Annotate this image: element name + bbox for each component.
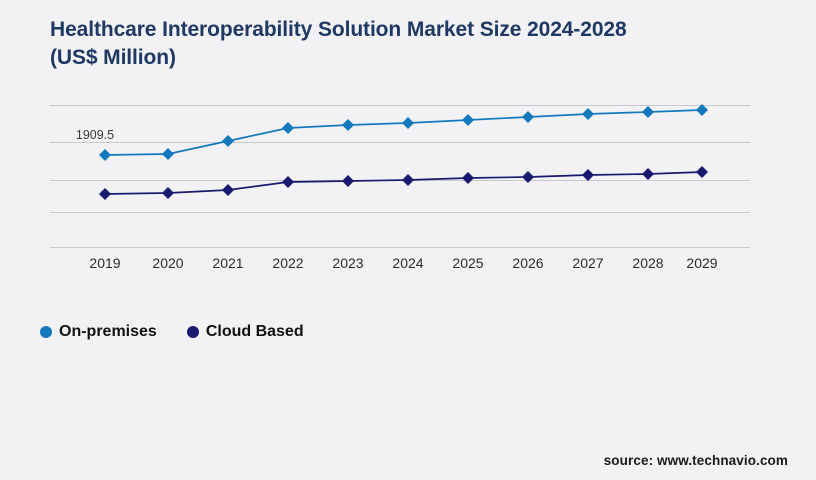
x-axis-tick-label: 2021 [212, 255, 243, 271]
x-axis-tick-label: 2019 [89, 255, 120, 271]
x-axis-tick-label: 2023 [332, 255, 363, 271]
series-line-cloud-based [105, 172, 702, 194]
data-point-marker[interactable] [462, 114, 474, 126]
legend-marker-icon-cloud-based [187, 326, 199, 338]
x-axis-tick-label: 2028 [632, 255, 663, 271]
legend-marker-icon-on-premises [40, 326, 52, 338]
data-point-marker[interactable] [642, 168, 654, 180]
data-point-marker[interactable] [522, 111, 534, 123]
data-point-marker[interactable] [342, 119, 354, 131]
x-axis-tick-labels: 2019202020212022202320242025202620272028… [89, 255, 717, 271]
x-axis-tick-label: 2020 [152, 255, 183, 271]
x-axis-tick-label: 2025 [452, 255, 483, 271]
data-point-marker[interactable] [99, 188, 111, 200]
chart-plot-area: 1909.5 201920202021202220232024202520262… [0, 0, 816, 290]
legend-label-cloud-based: Cloud Based [206, 323, 304, 341]
data-point-marker[interactable] [162, 148, 174, 160]
x-axis-tick-label: 2027 [572, 255, 603, 271]
x-axis-tick-label: 2024 [392, 255, 423, 271]
data-point-marker[interactable] [282, 122, 294, 134]
line-chart-svg: 1909.5 201920202021202220232024202520262… [0, 0, 816, 290]
data-point-marker[interactable] [402, 117, 414, 129]
data-point-marker[interactable] [642, 106, 654, 118]
x-axis-tick-label: 2022 [272, 255, 303, 271]
legend-item-cloud-based[interactable]: Cloud Based [187, 323, 304, 341]
x-axis-tick-label: 2029 [686, 255, 717, 271]
data-labels: 1909.5 [76, 128, 114, 142]
data-point-marker[interactable] [342, 175, 354, 187]
data-point-marker[interactable] [522, 171, 534, 183]
chart-page: Healthcare Interoperability Solution Mar… [0, 0, 816, 480]
data-point-marker[interactable] [222, 184, 234, 196]
data-point-marker[interactable] [222, 135, 234, 147]
x-axis-tick-label: 2026 [512, 255, 543, 271]
data-point-marker[interactable] [282, 176, 294, 188]
data-point-label: 1909.5 [76, 128, 114, 142]
data-point-marker[interactable] [99, 149, 111, 161]
legend-item-on-premises[interactable]: On-premises [40, 323, 157, 341]
data-point-marker[interactable] [582, 108, 594, 120]
series-markers [99, 104, 708, 200]
source-attribution: source: www.technavio.com [604, 453, 788, 468]
legend-label-on-premises: On-premises [59, 323, 157, 341]
data-point-marker[interactable] [696, 166, 708, 178]
data-point-marker[interactable] [162, 187, 174, 199]
data-point-marker[interactable] [402, 174, 414, 186]
chart-legend: On-premises Cloud Based [40, 323, 304, 341]
data-point-marker[interactable] [462, 172, 474, 184]
data-point-marker[interactable] [582, 169, 594, 181]
series-line-on-premises [105, 110, 702, 155]
